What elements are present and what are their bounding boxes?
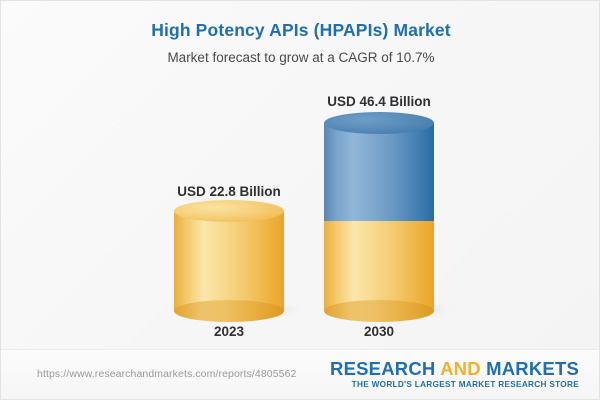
cylinder-top-cap [324,112,434,134]
bar-value-label-2030: USD 46.4 Billion [327,94,431,109]
cylinder-top-cap [174,200,284,222]
cylinder-2030[interactable] [324,123,434,311]
infographic-card: High Potency APIs (HPAPIs) Market Market… [0,0,600,400]
cylinder-segment-blue [324,123,434,221]
bar-group-2030: USD 46.4 Billion 2030 [324,123,434,311]
footer-bar: https://www.researchandmarkets.com/repor… [1,349,600,399]
logo-word-and: AND [440,358,481,379]
cylinder-2023[interactable] [174,211,284,311]
logo-word-markets: MARKETS [486,358,579,379]
segment-body [174,211,284,311]
research-and-markets-logo[interactable]: RESEARCH AND MARKETS THE WORLD'S LARGEST… [330,358,579,389]
category-label-2023: 2023 [214,324,244,339]
cylinder-bottom-edge [324,300,434,322]
logo-word-research: RESEARCH [330,358,435,379]
bar-group-2023: USD 22.8 Billion 2023 [174,211,284,311]
chart-plot-area: USD 22.8 Billion 2023 USD 46.4 Billion [1,1,600,351]
logo-wordmark: RESEARCH AND MARKETS [330,358,579,379]
bar-value-label-2023: USD 22.8 Billion [177,184,281,199]
cylinder-segment-yellow [174,211,284,311]
cylinder-bottom-edge [174,300,284,322]
segment-body [324,221,434,311]
cylinder-segment-yellow [324,221,434,311]
category-label-2030: 2030 [364,324,394,339]
segment-body [324,123,434,221]
report-url[interactable]: https://www.researchandmarkets.com/repor… [37,368,296,380]
logo-tagline: THE WORLD'S LARGEST MARKET RESEARCH STOR… [330,380,579,389]
